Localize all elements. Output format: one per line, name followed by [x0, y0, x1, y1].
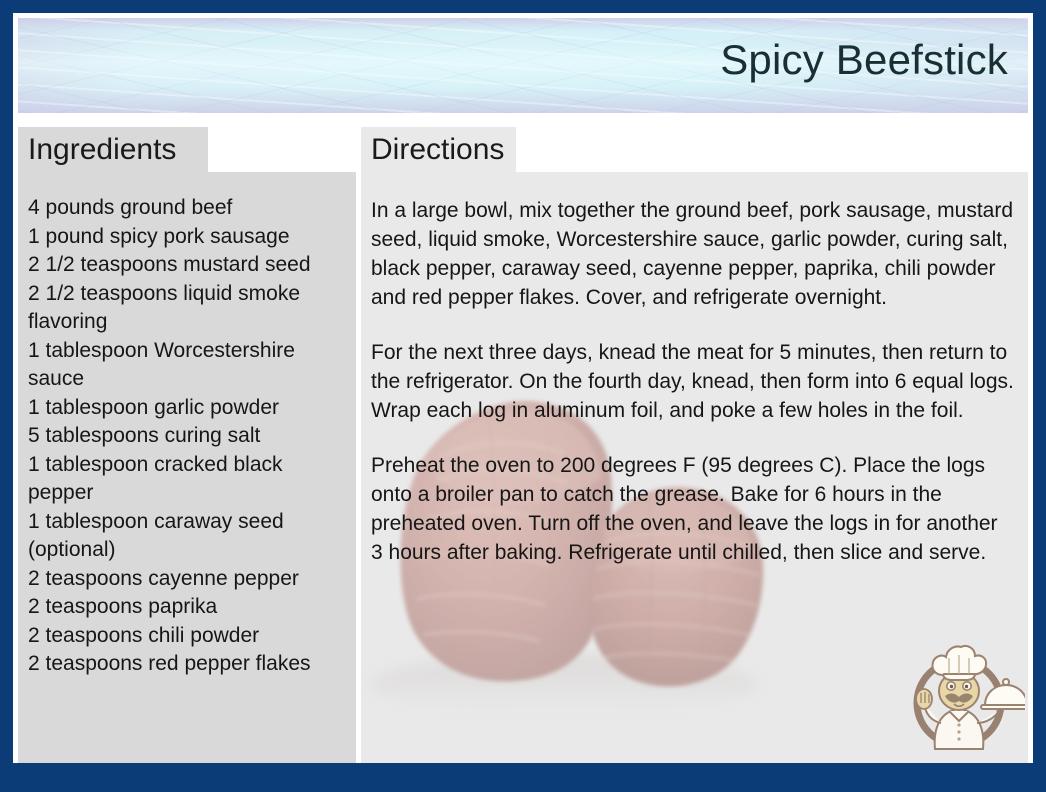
ingredients-panel: 4 pounds ground beef 1 pound spicy pork … [18, 172, 356, 763]
recipe-card-inner: Spicy Beefstick Ingredients Directions 4… [13, 13, 1033, 763]
directions-heading: Directions [361, 127, 516, 172]
list-item: 2 teaspoons chili powder [28, 622, 344, 651]
ingredients-list: 4 pounds ground beef 1 pound spicy pork … [28, 194, 344, 679]
directions-paragraph: Preheat the oven to 200 degrees F (95 de… [371, 451, 1014, 567]
directions-panel: In a large bowl, mix together the ground… [361, 172, 1028, 763]
header-banner: Spicy Beefstick [18, 18, 1028, 113]
list-item: 2 teaspoons paprika [28, 593, 344, 622]
list-item: 2 1/2 teaspoons mustard seed [28, 251, 344, 280]
list-item: 1 tablespoon Worcestershire sauce [28, 337, 344, 394]
list-item: 1 tablespoon caraway seed (optional) [28, 508, 344, 565]
page-title: Spicy Beefstick [720, 36, 1008, 84]
list-item: 2 1/2 teaspoons liquid smoke flavoring [28, 280, 344, 337]
directions-paragraph: For the next three days, knead the meat … [371, 338, 1014, 425]
list-item: 4 pounds ground beef [28, 194, 344, 223]
list-item: 1 tablespoon garlic powder [28, 394, 344, 423]
list-item: 5 tablespoons curing salt [28, 422, 344, 451]
list-item: 1 pound spicy pork sausage [28, 223, 344, 252]
directions-paragraph: In a large bowl, mix together the ground… [371, 196, 1014, 312]
list-item: 1 tablespoon cracked black pepper [28, 451, 344, 508]
ingredients-heading: Ingredients [18, 127, 208, 172]
recipe-card-page: Spicy Beefstick Ingredients Directions 4… [0, 0, 1046, 792]
directions-text: In a large bowl, mix together the ground… [371, 196, 1014, 567]
list-item: 2 teaspoons cayenne pepper [28, 565, 344, 594]
list-item: 2 teaspoons red pepper flakes [28, 650, 344, 679]
